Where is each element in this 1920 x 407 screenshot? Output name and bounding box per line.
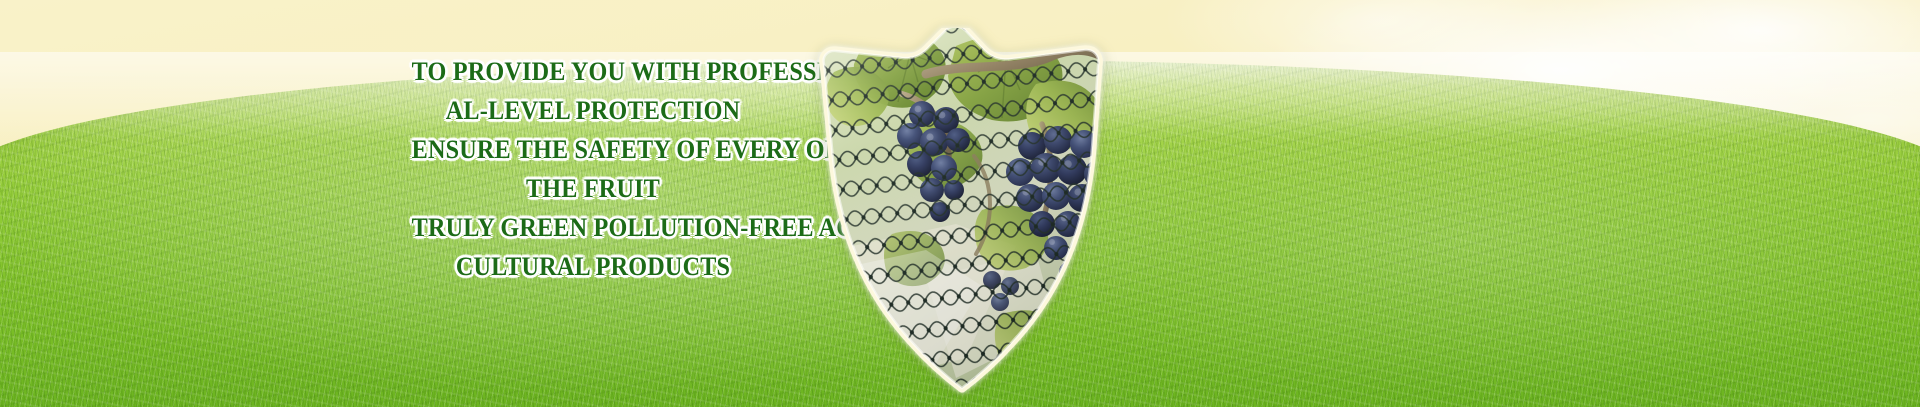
headline-line-5: TRULY GREEN POLLUTION-FREE AGRI- [412,208,775,247]
headline-line-2: AL-LEVEL PROTECTION [412,91,775,130]
shield-svg [806,28,1118,407]
shield-graphic [806,28,1118,407]
hero-banner: TO PROVIDE YOU WITH PROFESSION- AL-LEVEL… [0,0,1920,407]
headline-line-3: ENSURE THE SAFETY OF EVERY ONE OF [412,130,775,169]
headline-line-6: CULTURAL PRODUCTS [412,247,775,286]
shield-emblem [806,28,1118,407]
headline-text-block: TO PROVIDE YOU WITH PROFESSION- AL-LEVEL… [412,52,775,286]
headline-line-1: TO PROVIDE YOU WITH PROFESSION- [412,52,775,91]
shield-photo-content [806,28,1118,407]
headline-line-4: THE FRUIT [412,169,775,208]
